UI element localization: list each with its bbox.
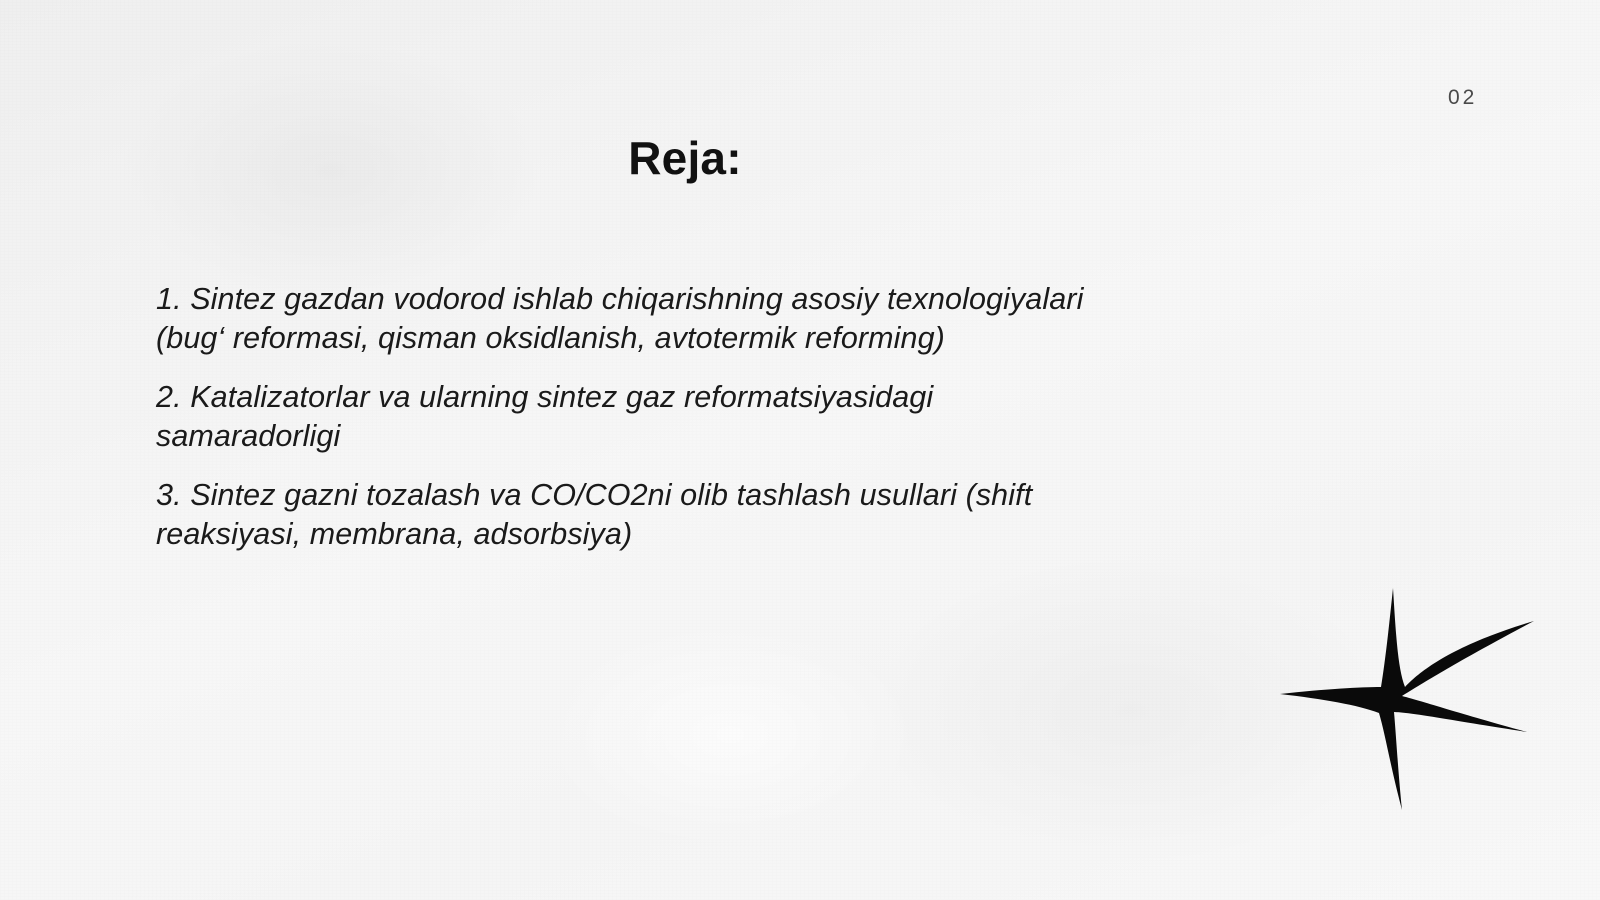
slide-canvas: 02 Reja: 1. Sintez gazdan vodorod ishlab… bbox=[0, 0, 1600, 900]
background-highlight-bottom-center bbox=[540, 620, 920, 850]
page-title: Reja: bbox=[0, 131, 1370, 185]
page-number: 02 bbox=[1448, 86, 1477, 110]
list-item-2: 2. Katalizatorlar va ularning sintez gaz… bbox=[156, 378, 1036, 456]
list-item-1: 1. Sintez gazdan vodorod ishlab chiqaris… bbox=[156, 280, 1091, 358]
five-point-star-icon bbox=[1255, 565, 1555, 830]
star-shape bbox=[1280, 588, 1534, 810]
list-item-3: 3. Sintez gazni tozalash va CO/CO2ni oli… bbox=[156, 476, 1096, 554]
